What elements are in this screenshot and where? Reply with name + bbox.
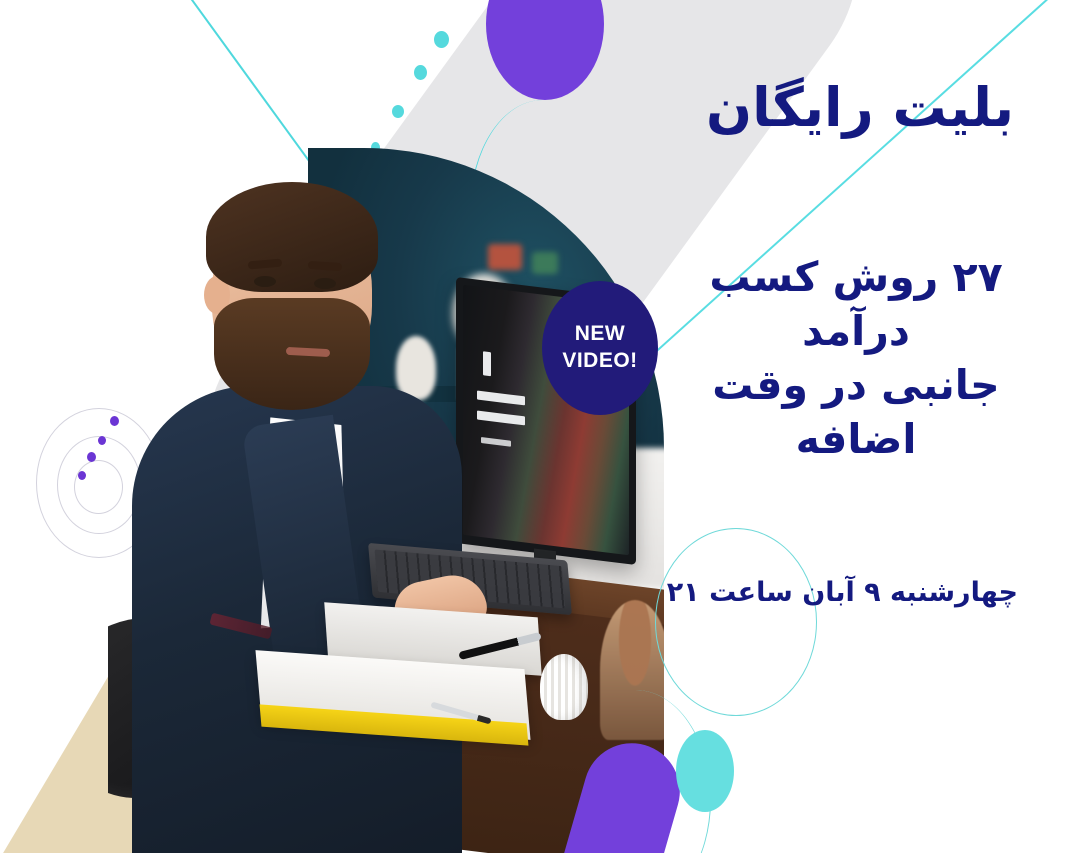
white-ribbed-vase: [540, 654, 588, 720]
purple-dot-1: [78, 471, 86, 480]
screen-ui-bar-4: [481, 437, 511, 447]
turquoise-dot-3: [392, 105, 404, 118]
hero-photo: [108, 148, 664, 853]
event-datetime: چهارشنبه ۹ آبان ساعت ۲۱: [698, 575, 1018, 610]
screen-ui-bar-2: [477, 391, 525, 406]
subject-eye-left: [254, 276, 276, 287]
page-title: ۲۷ روش کسب درآمد جانبی در وقت اضافه: [666, 250, 1046, 466]
turquoise-dot-1: [434, 31, 449, 48]
purple-dot-3: [98, 436, 106, 445]
screen-ui-bar-1: [483, 351, 491, 376]
headline-line-2: جانبی در وقت اضافه: [666, 358, 1046, 466]
purple-ellipse-shape: [486, 0, 604, 100]
turquoise-dot-2: [414, 65, 427, 80]
new-video-badge-line2: VIDEO!: [562, 349, 637, 374]
new-video-badge-line1: NEW: [575, 322, 626, 347]
shelf-object-green: [532, 252, 558, 274]
screen-ui-bar-3: [477, 411, 525, 426]
shelf-object-red: [488, 244, 522, 270]
subject-hair: [206, 182, 378, 292]
text-column: بلیت رایگان ۲۷ روش کسب درآمد جانبی در وق…: [634, 0, 1054, 853]
hero-photo-mask: [108, 148, 664, 853]
promo-banner: NEW VIDEO! بلیت رایگان ۲۷ روش کسب درآمد …: [0, 0, 1080, 853]
headline-line-1: ۲۷ روش کسب درآمد: [666, 250, 1046, 358]
subject-eye-right: [314, 278, 336, 289]
eyebrow-free-ticket: بلیت رایگان: [690, 76, 1030, 141]
purple-dot-2: [87, 452, 96, 462]
